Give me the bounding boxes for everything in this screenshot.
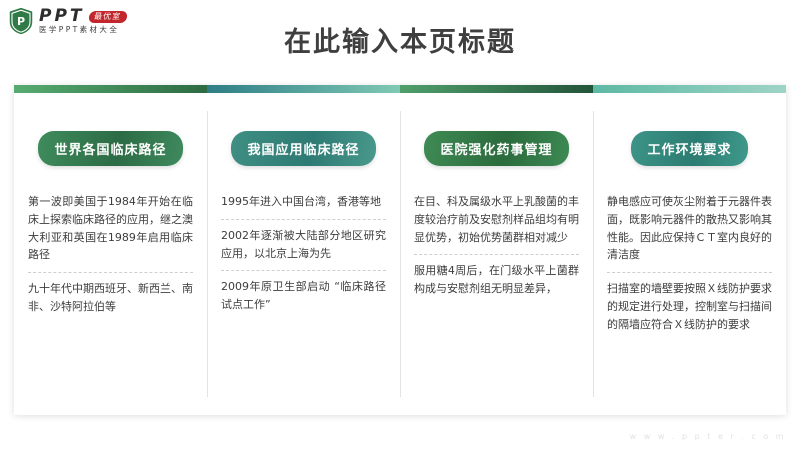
paragraph: 1995年进入中国台湾，香港等地: [221, 186, 386, 219]
column-2-paragraphs: 1995年进入中国台湾，香港等地 2002年逐渐被大陆部分地区研究应用，以北京上…: [221, 186, 386, 322]
column-2-heading: 我国应用临床路径: [231, 131, 375, 166]
column-4: 工作环境要求 静电感应可使灰尘附着于元器件表面，既影响元器件的散热又影响其性能。…: [593, 93, 786, 415]
column-4-paragraphs: 静电感应可使灰尘附着于元器件表面，既影响元器件的散热又影响其性能。因此应保持ＣＴ…: [607, 186, 772, 342]
topbar-segment-2: [207, 85, 400, 93]
columns-container: 世界各国临床路径 第一波即美国于1984年开始在临床上探索临床路径的应用，继之澳…: [14, 93, 786, 415]
column-1: 世界各国临床路径 第一波即美国于1984年开始在临床上探索临床路径的应用，继之澳…: [14, 93, 207, 415]
paragraph: 静电感应可使灰尘附着于元器件表面，既影响元器件的散热又影响其性能。因此应保持ＣＴ…: [607, 186, 772, 272]
paragraph: 2009年原卫生部启动 “临床路径试点工作”: [221, 270, 386, 322]
column-3-paragraphs: 在目、科及属级水平上乳酸菌的丰度较治疗前及安慰剂样品组均有明显优势，初始优势菌群…: [414, 186, 579, 306]
column-1-paragraphs: 第一波即美国于1984年开始在临床上探索临床路径的应用，继之澳大利亚和英国在19…: [28, 186, 193, 324]
paragraph: 2002年逐渐被大陆部分地区研究应用，以北京上海为先: [221, 219, 386, 271]
accent-topbar: [14, 85, 786, 93]
column-3-heading: 医院强化药事管理: [424, 131, 568, 166]
paragraph: 第一波即美国于1984年开始在临床上探索临床路径的应用，继之澳大利亚和英国在19…: [28, 186, 193, 272]
paragraph: 服用糖4周后，在门级水平上菌群构成与安慰剂组无明显差异，: [414, 254, 579, 306]
column-4-heading: 工作环境要求: [631, 131, 747, 166]
topbar-segment-1: [14, 85, 207, 93]
content-card: 世界各国临床路径 第一波即美国于1984年开始在临床上探索临床路径的应用，继之澳…: [14, 85, 786, 415]
site-watermark: w w w . p p t e r . c o m: [630, 432, 786, 441]
column-2: 我国应用临床路径 1995年进入中国台湾，香港等地 2002年逐渐被大陆部分地区…: [207, 93, 400, 415]
topbar-segment-3: [400, 85, 593, 93]
page-title: 在此输入本页标题: [0, 20, 800, 59]
paragraph: 九十年代中期西班牙、新西兰、南非、沙特阿拉伯等: [28, 272, 193, 324]
topbar-segment-4: [593, 85, 786, 93]
paragraph: 在目、科及属级水平上乳酸菌的丰度较治疗前及安慰剂样品组均有明显优势，初始优势菌群…: [414, 186, 579, 254]
column-1-heading: 世界各国临床路径: [38, 131, 182, 166]
column-3: 医院强化药事管理 在目、科及属级水平上乳酸菌的丰度较治疗前及安慰剂样品组均有明显…: [400, 93, 593, 415]
paragraph: 扫描室的墙壁要按照Ｘ线防护要求的规定进行处理，控制室与扫描间的隔墙应符合Ｘ线防护…: [607, 272, 772, 341]
